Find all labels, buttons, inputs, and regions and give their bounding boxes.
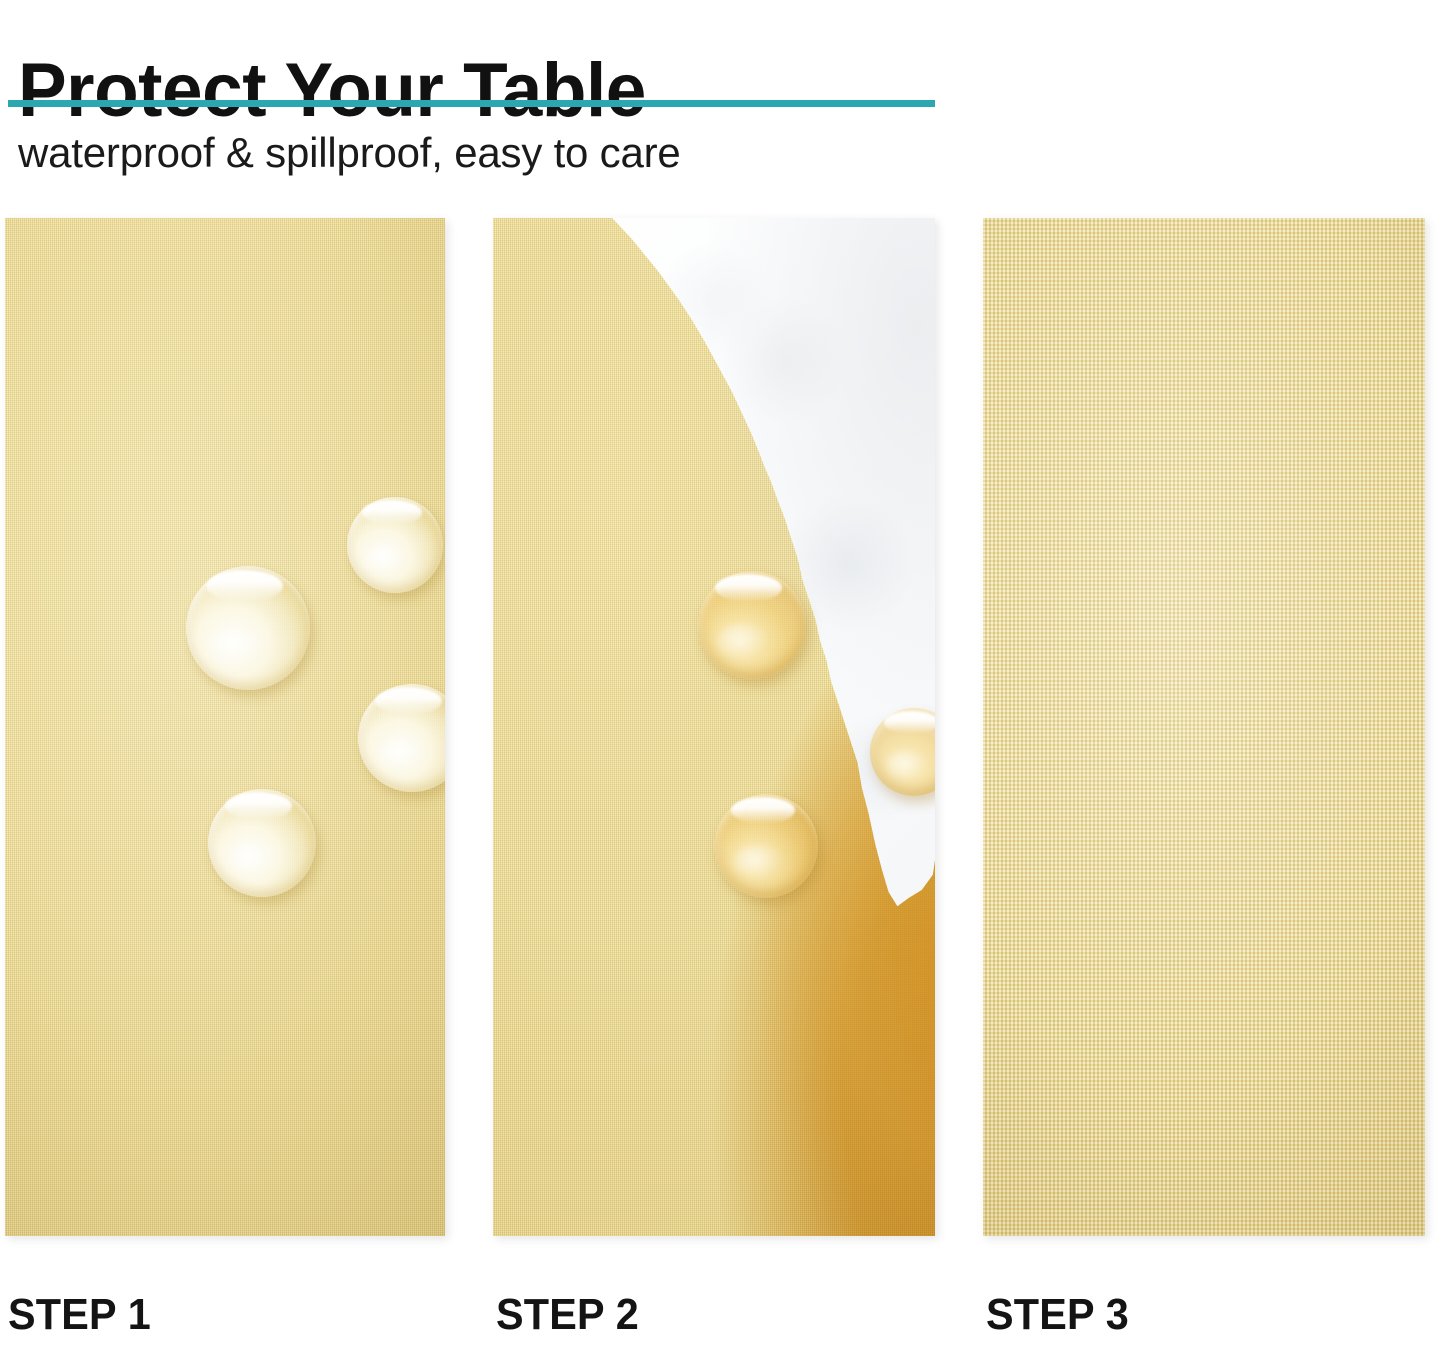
- panels-row: [0, 218, 1445, 1236]
- water-droplet: [714, 794, 818, 898]
- step-1-image-panel: [5, 218, 445, 1236]
- water-droplet: [698, 571, 806, 679]
- water-droplet: [208, 789, 316, 897]
- step-2-image-panel: [493, 218, 935, 1236]
- infographic-page: Protect Your Table waterproof & spillpro…: [0, 0, 1445, 1351]
- page-title: Protect Your Table: [18, 45, 646, 137]
- fabric-surface-clean: [983, 218, 1425, 1236]
- step-3-image-panel: [983, 218, 1425, 1236]
- page-subtitle: waterproof & spillproof, easy to care: [18, 126, 681, 180]
- step-3-label: STEP 3: [986, 1290, 1129, 1340]
- water-droplet: [186, 566, 310, 690]
- step-1-label: STEP 1: [8, 1290, 151, 1340]
- title-divider-rule: [8, 100, 935, 107]
- step-2-label: STEP 2: [496, 1290, 639, 1340]
- water-droplet: [347, 497, 443, 593]
